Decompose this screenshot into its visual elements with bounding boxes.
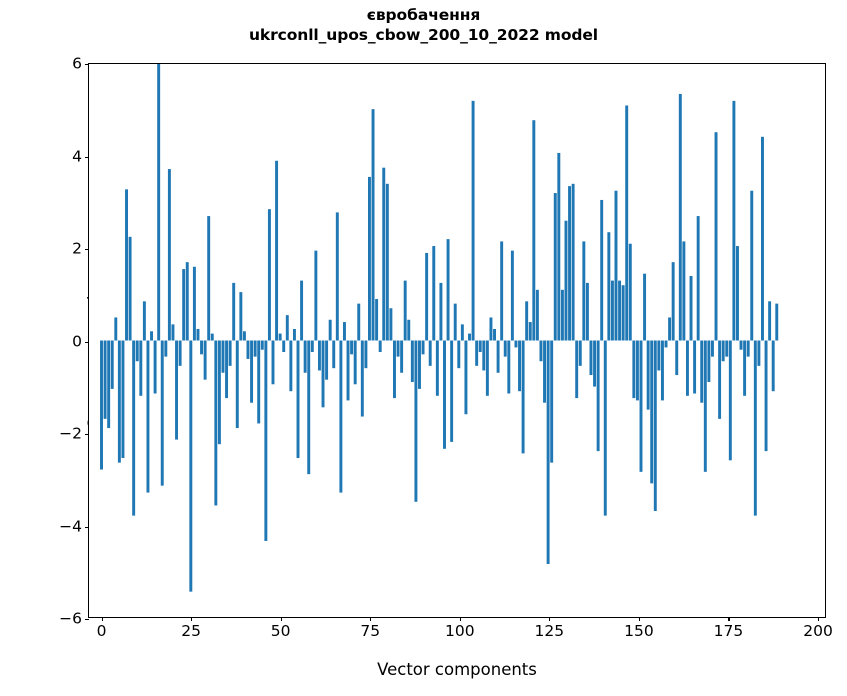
bar: [393, 341, 396, 399]
bar: [514, 341, 517, 348]
bar: [675, 341, 678, 376]
bar: [339, 341, 342, 493]
bar: [704, 341, 707, 472]
bar: [647, 341, 650, 410]
x-axis-tick: [460, 617, 461, 621]
bar: [761, 137, 764, 341]
bar: [650, 341, 653, 484]
bar: [232, 283, 235, 341]
y-axis-tick: [85, 434, 89, 435]
bar: [772, 341, 775, 392]
bar: [354, 341, 357, 385]
bar: [171, 324, 174, 340]
bar: [114, 317, 117, 340]
bar: [700, 341, 703, 403]
bar: [522, 341, 525, 454]
bar: [350, 341, 353, 355]
bar: [261, 341, 264, 350]
bar: [568, 186, 571, 340]
x-axis-tick: [818, 617, 819, 621]
bar: [736, 246, 739, 340]
bar: [715, 132, 718, 340]
bar: [597, 341, 600, 452]
bar: [247, 341, 250, 359]
bar: [304, 341, 307, 373]
y-axis-tick: [85, 249, 89, 250]
bar: [525, 301, 528, 340]
bar: [579, 341, 582, 366]
bar: [722, 341, 725, 362]
bar: [729, 341, 732, 461]
x-axis-tick: [191, 617, 192, 621]
bar: [329, 320, 332, 341]
x-axis-tick: [281, 617, 282, 621]
bar: [486, 341, 489, 396]
bar: [464, 341, 467, 415]
bar: [361, 341, 364, 417]
bar: [243, 331, 246, 340]
bar: [432, 246, 435, 340]
bar: [425, 253, 428, 341]
bar: [368, 177, 371, 341]
plot-axes: 6420−2−4−60255075100125150175200: [88, 63, 826, 618]
bar: [364, 341, 367, 369]
bar: [497, 341, 500, 373]
bar: [757, 341, 760, 366]
bar: [665, 341, 668, 348]
bar: [504, 341, 507, 357]
bar: [565, 221, 568, 341]
bar: [375, 299, 378, 340]
bar: [775, 304, 778, 341]
bar: [707, 341, 710, 382]
bar: [132, 341, 135, 516]
bar: [207, 216, 210, 340]
bar: [472, 101, 475, 341]
bar: [582, 241, 585, 340]
bar: [336, 212, 339, 340]
bar: [150, 331, 153, 340]
bar: [439, 283, 442, 341]
bar: [500, 241, 503, 340]
x-axis-tick: [639, 617, 640, 621]
bar: [450, 341, 453, 442]
bar: [236, 341, 239, 429]
bar: [200, 341, 203, 355]
bar: [557, 153, 560, 341]
y-axis-tick: [85, 527, 89, 528]
bar: [104, 341, 107, 419]
bar: [482, 341, 485, 371]
bar: [743, 341, 746, 396]
x-axis-tick: [102, 617, 103, 621]
bar: [654, 341, 657, 512]
bar: [511, 251, 514, 341]
bar: [718, 341, 721, 419]
bar: [279, 334, 282, 341]
bar: [489, 317, 492, 340]
bar: [493, 329, 496, 341]
bar: [372, 109, 375, 340]
bar: [157, 64, 160, 340]
y-axis-tick-label: 2: [72, 241, 82, 257]
bar: [282, 341, 285, 353]
bar: [668, 317, 671, 340]
bar: [457, 341, 460, 369]
x-axis-tick: [728, 617, 729, 621]
bar: [229, 341, 232, 366]
bar: [750, 191, 753, 341]
y-axis-tick-label: 6: [72, 56, 82, 72]
bar: [386, 184, 389, 341]
bar: [443, 341, 446, 449]
bar: [211, 334, 214, 341]
bar: [632, 341, 635, 399]
bar: [264, 341, 267, 541]
x-axis-tick-label: 100: [445, 624, 475, 640]
bar: [121, 341, 124, 459]
bar: [307, 341, 310, 475]
bar: [164, 341, 167, 357]
bar: [539, 341, 542, 362]
bar: [732, 101, 735, 341]
bar: [379, 341, 382, 353]
bar: [554, 193, 557, 340]
y-axis-tick-label: −6: [59, 611, 82, 627]
bar: [754, 341, 757, 516]
bar: [222, 341, 225, 373]
bar: [111, 341, 114, 389]
bar: [250, 341, 253, 403]
x-axis-tick-label: 125: [535, 624, 565, 640]
bar: [590, 341, 593, 376]
bar: [239, 292, 242, 340]
bar: [382, 168, 385, 341]
bar: [686, 341, 689, 396]
x-axis-tick-label: 150: [624, 624, 654, 640]
bar: [257, 341, 260, 424]
bar: [625, 105, 628, 340]
bar: [404, 281, 407, 341]
bar: [389, 308, 392, 340]
chart-title: євробачення ukrconll_upos_cbow_200_10_20…: [0, 6, 847, 45]
bar: [768, 301, 771, 340]
bar: [536, 290, 539, 341]
bar: [214, 341, 217, 506]
bar: [314, 251, 317, 341]
bar: [611, 281, 614, 341]
bar: [357, 304, 360, 341]
bar: [189, 341, 192, 592]
bar: [622, 285, 625, 340]
bar: [297, 341, 300, 459]
bar: [411, 341, 414, 382]
bar: [204, 341, 207, 380]
bar: [275, 161, 278, 341]
bar: [125, 189, 128, 340]
bar: [618, 281, 621, 341]
y-axis-tick-label: −4: [59, 519, 82, 535]
bar: [397, 341, 400, 357]
bar: [447, 239, 450, 340]
bar: [740, 341, 743, 350]
bar: [225, 341, 228, 399]
y-axis-tick: [85, 64, 89, 65]
bar: [657, 341, 660, 371]
y-axis-tick: [85, 342, 89, 343]
bar: [343, 322, 346, 340]
y-axis-tick-label: −2: [59, 426, 82, 442]
bar: [479, 341, 482, 353]
bar: [529, 322, 532, 340]
bar: [197, 329, 200, 341]
bar: [643, 274, 646, 341]
bar: [154, 341, 157, 394]
bar: [325, 341, 328, 380]
chart-figure: євробачення ukrconll_upos_cbow_200_10_20…: [0, 0, 847, 696]
y-axis-tick-label: 4: [72, 149, 82, 165]
bar: [193, 267, 196, 341]
bar: [607, 232, 610, 340]
bar: [615, 191, 618, 341]
bar: [693, 341, 696, 394]
bar: [586, 283, 589, 341]
bar: [100, 341, 103, 470]
x-axis-label: Vector components: [88, 660, 826, 679]
x-axis-tick-label: 25: [181, 624, 201, 640]
bar: [550, 341, 553, 463]
x-axis-tick-label: 200: [803, 624, 833, 640]
bar: [322, 341, 325, 408]
bar: [300, 281, 303, 341]
bar: [143, 301, 146, 340]
bar: [572, 184, 575, 341]
bar: [218, 341, 221, 445]
bar: [711, 341, 714, 357]
bar: [407, 320, 410, 341]
bar: [347, 341, 350, 401]
bar: [661, 341, 664, 401]
bar: [293, 329, 296, 341]
bar: [593, 341, 596, 387]
x-axis-tick-label: 175: [714, 624, 744, 640]
x-axis-tick-label: 50: [271, 624, 291, 640]
bar: [697, 216, 700, 340]
bar: [475, 341, 478, 366]
bar-series: [89, 64, 825, 617]
chart-title-model: ukrconll_upos_cbow_200_10_2022 model: [0, 26, 847, 46]
bar: [289, 341, 292, 392]
bar: [679, 94, 682, 341]
bar: [318, 341, 321, 371]
bar: [604, 341, 607, 516]
bar: [107, 341, 110, 429]
bar: [175, 341, 178, 440]
bar: [414, 341, 417, 502]
bar: [532, 120, 535, 340]
bar: [139, 341, 142, 396]
bar: [436, 341, 439, 396]
x-axis-tick-label: 75: [360, 624, 380, 640]
bar: [682, 241, 685, 340]
chart-title-word: євробачення: [0, 6, 847, 26]
bar: [179, 341, 182, 366]
bar: [765, 341, 768, 452]
bar: [146, 341, 149, 493]
bar: [636, 341, 639, 401]
bar: [136, 341, 139, 362]
bar: [129, 237, 132, 341]
bar: [547, 341, 550, 565]
bar: [311, 341, 314, 353]
bar: [543, 341, 546, 403]
bar: [747, 341, 750, 357]
x-axis-tick: [370, 617, 371, 621]
bar: [272, 341, 275, 385]
bar: [561, 290, 564, 341]
bar: [118, 341, 121, 463]
y-axis-tick: [85, 157, 89, 158]
bar: [518, 341, 521, 392]
bar: [600, 200, 603, 341]
y-axis-tick: [85, 619, 89, 620]
bar: [418, 341, 421, 389]
bar: [182, 269, 185, 340]
bar: [507, 341, 510, 394]
bar: [161, 341, 164, 486]
bar: [422, 341, 425, 355]
bar: [725, 341, 728, 357]
bar: [629, 244, 632, 341]
bar: [690, 276, 693, 341]
bar: [461, 324, 464, 340]
bar: [640, 341, 643, 472]
bar: [400, 341, 403, 373]
bar: [468, 334, 471, 341]
x-axis-tick: [549, 617, 550, 621]
bar: [168, 169, 171, 340]
bar: [454, 304, 457, 341]
bar: [672, 262, 675, 340]
bar: [429, 341, 432, 366]
bar: [186, 262, 189, 340]
bar: [575, 341, 578, 399]
bar: [332, 341, 335, 369]
y-axis-tick-label: 0: [72, 334, 82, 350]
x-axis-tick-label: 0: [97, 624, 107, 640]
plot-area: [89, 64, 825, 617]
bar: [268, 209, 271, 340]
bar: [254, 341, 257, 357]
bar: [286, 315, 289, 340]
